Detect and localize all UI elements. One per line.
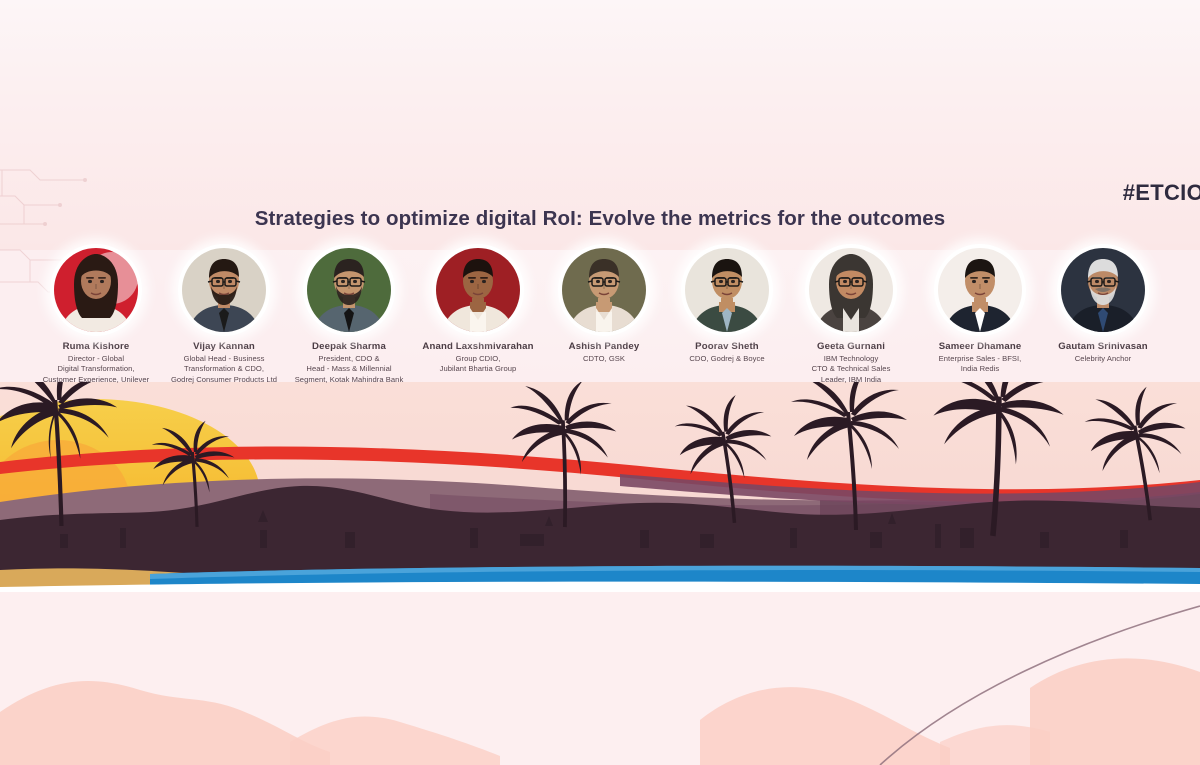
speaker-role-line: India Redis bbox=[900, 364, 1060, 374]
speaker-role-line: Celebrity Anchor bbox=[1023, 354, 1183, 364]
avatar bbox=[432, 244, 524, 336]
avatar-photo bbox=[307, 248, 391, 332]
speaker-role-line: Segment, Kotak Mahindra Bank bbox=[269, 375, 429, 385]
avatar-photo bbox=[938, 248, 1022, 332]
footer-hills-illustration bbox=[0, 592, 1200, 765]
page-title: Strategies to optimize digital RoI: Evol… bbox=[0, 207, 1200, 231]
event-hashtag: #ETCIO bbox=[1123, 180, 1200, 206]
speaker-name: Gautam Srinivasan bbox=[1023, 341, 1183, 353]
avatar bbox=[178, 244, 270, 336]
speaker-role: Celebrity Anchor bbox=[1023, 354, 1183, 364]
avatar-photo bbox=[809, 248, 893, 332]
avatar bbox=[303, 244, 395, 336]
avatar-photo bbox=[182, 248, 266, 332]
speaker-role-line: Jubilant Bhartia Group bbox=[398, 364, 558, 374]
avatar bbox=[558, 244, 650, 336]
avatar-photo bbox=[436, 248, 520, 332]
speaker-lineup: Ruma Kishore Director - GlobalDigital Tr… bbox=[0, 244, 1200, 394]
avatar bbox=[805, 244, 897, 336]
avatar bbox=[934, 244, 1026, 336]
avatar-photo bbox=[1061, 248, 1145, 332]
avatar-photo bbox=[685, 248, 769, 332]
slide-canvas: Strategies to optimize digital RoI: Evol… bbox=[0, 0, 1200, 765]
avatar bbox=[1057, 244, 1149, 336]
avatar-photo bbox=[562, 248, 646, 332]
sunset-beach-illustration bbox=[0, 382, 1200, 597]
avatar-photo bbox=[54, 248, 138, 332]
avatar bbox=[50, 244, 142, 336]
speaker-role-line: Leader, IBM India bbox=[771, 375, 931, 385]
avatar bbox=[681, 244, 773, 336]
speaker-card: Gautam Srinivasan Celebrity Anchor bbox=[1023, 244, 1183, 364]
